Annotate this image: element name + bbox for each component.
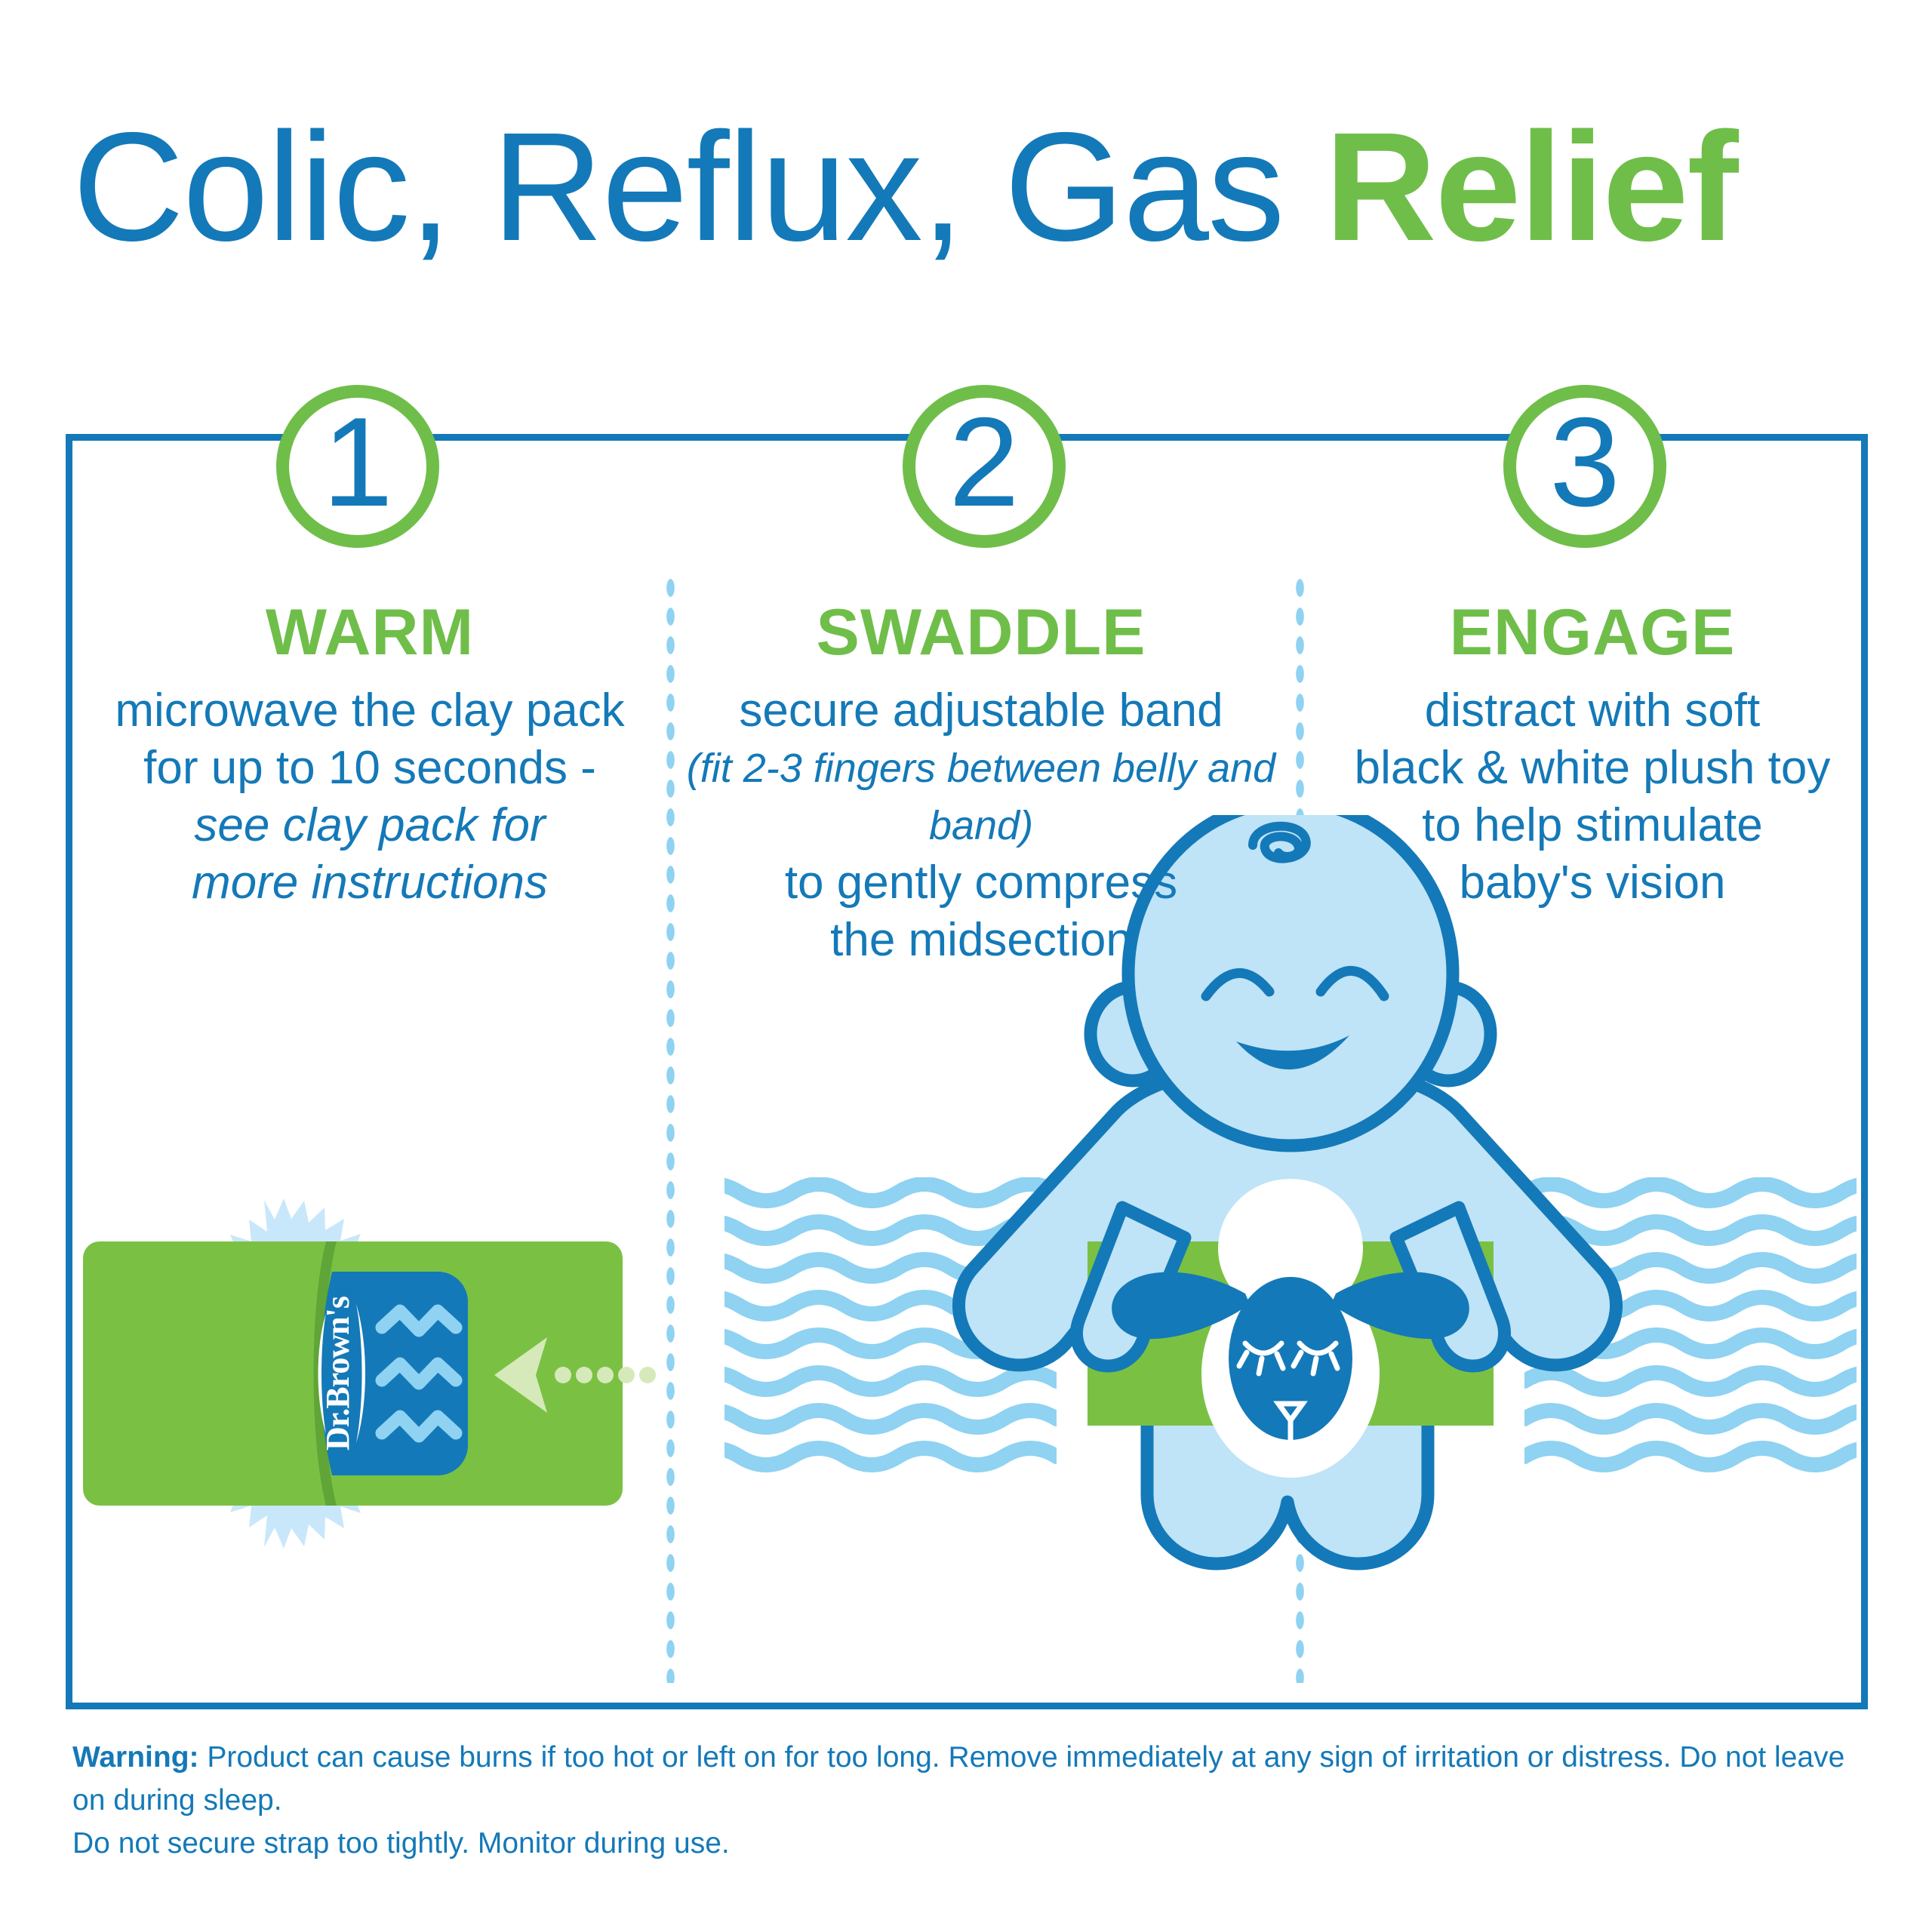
infographic-root: Colic, Reflux, Gas Relief 1 2 3 WARM mic… xyxy=(0,0,1932,1932)
step-number-1: 1 xyxy=(322,398,392,525)
step-body-line: for up to 10 seconds - xyxy=(83,740,657,797)
column-divider-1 xyxy=(664,574,677,1683)
step-body-line: baby's vision xyxy=(1313,854,1872,912)
warning-text: Warning: Product can cause burns if too … xyxy=(72,1736,1884,1865)
step-column-2: SWADDLE secure adjustable band (fit 2-3 … xyxy=(679,596,1283,969)
step-body-2: secure adjustable band (fit 2-3 fingers … xyxy=(679,682,1283,969)
step-body-line: see clay pack for xyxy=(83,797,657,854)
step-badge-2: 2 xyxy=(903,385,1066,548)
page-title: Colic, Reflux, Gas Relief xyxy=(72,97,1869,278)
step-body-line: to gently compress xyxy=(679,854,1283,912)
step-body-line: the midsection xyxy=(679,912,1283,969)
warning-label: Warning: xyxy=(72,1741,199,1774)
step-heading-1: WARM xyxy=(83,596,657,669)
clay-pack: Dr.Brown's xyxy=(318,1272,469,1475)
warning-line-1: Warning: Product can cause burns if too … xyxy=(72,1736,1884,1822)
step-heading-2: SWADDLE xyxy=(679,596,1283,669)
step-column-1: WARM microwave the clay pack for up to 1… xyxy=(83,596,657,912)
step-body-line: (fit 2-3 fingers between belly and band) xyxy=(679,740,1283,854)
step-column-3: ENGAGE distract with soft black & white … xyxy=(1313,596,1872,912)
step-body-3: distract with soft black & white plush t… xyxy=(1313,682,1872,912)
step-badge-1: 1 xyxy=(276,385,439,548)
page-title-green: Relief xyxy=(1324,100,1737,273)
step-body-line: to help stimulate xyxy=(1313,797,1872,854)
step-body-line: black & white plush toy xyxy=(1313,740,1872,797)
step-heading-3: ENGAGE xyxy=(1313,596,1872,669)
step-body-line: more instructions xyxy=(83,854,657,912)
step-number-3: 3 xyxy=(1549,398,1620,525)
page-title-blue: Colic, Reflux, Gas xyxy=(72,100,1324,273)
step-body-1: microwave the clay pack for up to 10 sec… xyxy=(83,682,657,912)
step-number-2: 2 xyxy=(949,398,1019,525)
warning-body-1: Product can cause burns if too hot or le… xyxy=(72,1741,1844,1817)
clay-pack-illustration: Dr.Brown's xyxy=(83,1162,657,1585)
warning-line-2: Do not secure strap too tightly. Monitor… xyxy=(72,1822,1884,1865)
step-body-line: microwave the clay pack xyxy=(83,682,657,740)
step-body-line: distract with soft xyxy=(1313,682,1872,740)
step-body-line: secure adjustable band xyxy=(679,682,1283,740)
step-badge-3: 3 xyxy=(1503,385,1666,548)
